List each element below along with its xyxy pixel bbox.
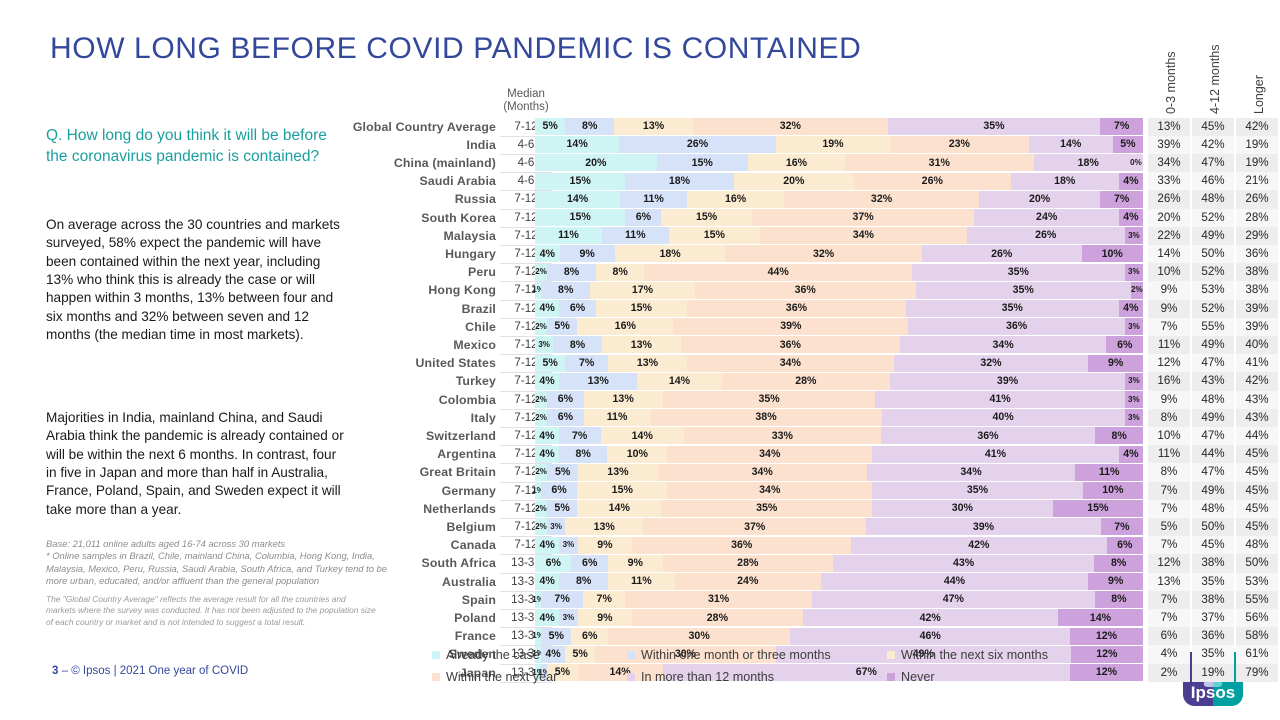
- row-label: Belgium: [300, 518, 496, 536]
- bar-segment: 36%: [881, 427, 1096, 444]
- row-label: Argentina: [300, 445, 496, 463]
- bar-segment: 15%: [1053, 500, 1143, 517]
- bar-segment: 26%: [619, 136, 776, 153]
- summary-cell: 42%: [1236, 372, 1278, 390]
- bar-segment: 5%: [547, 500, 577, 517]
- row-label: Poland: [300, 609, 496, 627]
- row-label: South Korea: [300, 209, 496, 227]
- summary-cell: 5%: [1148, 518, 1190, 536]
- row-label: Global Country Average: [300, 118, 496, 136]
- summary-header-1: 4-12 months: [1204, 32, 1222, 114]
- row-label: Chile: [300, 318, 496, 336]
- summary-cell: 7%: [1148, 482, 1190, 500]
- bar-segment: 36%: [695, 282, 916, 299]
- chart-legend: Already the caseWithin one month or thre…: [432, 648, 1192, 692]
- bar-segment: 11%: [608, 573, 675, 590]
- bar-segment: 36%: [632, 537, 851, 554]
- bar-segment: 32%: [784, 191, 979, 208]
- bar-segment: 19%: [776, 136, 890, 153]
- summary-cell: 44%: [1236, 427, 1278, 445]
- summary-cell: 50%: [1192, 245, 1234, 263]
- bar-segment: 11%: [584, 409, 651, 426]
- summary-cell: 6%: [1148, 627, 1190, 645]
- bar-segment: 3%: [1125, 409, 1143, 426]
- bar-segment: 9%: [560, 245, 615, 262]
- bar-segment: 15%: [535, 209, 625, 226]
- summary-cell: 13%: [1148, 118, 1190, 136]
- summary-cell: 50%: [1236, 554, 1278, 572]
- chart-row: Canada7-124%3%9%36%42%6%7%45%48%: [0, 536, 1280, 554]
- legend-label: Never: [901, 670, 935, 684]
- summary-cell: 37%: [1192, 609, 1234, 627]
- summary-cell: 19%: [1236, 154, 1278, 172]
- summary-cell: 26%: [1236, 190, 1278, 208]
- summary-cell: 20%: [1148, 209, 1190, 227]
- bar-segment: 11%: [620, 191, 687, 208]
- row-label: Spain: [300, 591, 496, 609]
- bar-segment: 34%: [667, 446, 872, 463]
- bar-segment: 7%: [565, 355, 608, 372]
- bar-segment: 38%: [651, 409, 882, 426]
- bar-segment: 4%: [535, 609, 559, 626]
- bar-segment: 15%: [669, 227, 760, 244]
- chart-row: United States7-125%7%13%34%32%9%12%47%41…: [0, 354, 1280, 372]
- bar-segment: 35%: [663, 391, 876, 408]
- bar-segment: 15%: [577, 482, 667, 499]
- bar-segment: 4%: [535, 373, 559, 390]
- summary-cell: 49%: [1192, 336, 1234, 354]
- row-label: Mexico: [300, 336, 496, 354]
- summary-cell: 45%: [1236, 445, 1278, 463]
- bar-segment: 9%: [1088, 355, 1143, 372]
- chart-row: Italy7-122%6%11%38%40%3%8%49%43%: [0, 409, 1280, 427]
- bar-segment: 15%: [657, 154, 748, 171]
- bar-segment: 36%: [681, 336, 900, 353]
- bar-segment: 41%: [872, 446, 1119, 463]
- legend-label: In more than 12 months: [641, 670, 774, 684]
- bar-segment: 24%: [675, 573, 821, 590]
- summary-cell: 35%: [1192, 573, 1234, 591]
- bar-segment: 17%: [590, 282, 694, 299]
- bar-segment: 2%: [535, 518, 547, 535]
- row-bar: 6%6%9%28%43%8%: [535, 555, 1143, 572]
- bar-segment: 11%: [535, 227, 602, 244]
- summary-cell: 9%: [1148, 391, 1190, 409]
- bar-segment: 3%: [559, 609, 577, 626]
- bar-segment: 31%: [845, 154, 1033, 171]
- stacked-bar-chart: Median (Months) 0-3 months4-12 monthsLon…: [0, 0, 1280, 720]
- bar-segment: 23%: [890, 136, 1028, 153]
- chart-row: Great Britain7-122%5%13%34%34%11%8%47%45…: [0, 463, 1280, 481]
- bar-segment: 26%: [854, 173, 1011, 190]
- bar-segment: 7%: [541, 591, 583, 608]
- median-column-header: Median (Months): [498, 88, 554, 114]
- summary-cell: 52%: [1192, 209, 1234, 227]
- row-bar: 3%8%13%36%34%6%: [535, 336, 1143, 353]
- bar-segment: 26%: [922, 245, 1082, 262]
- legend-row: Within the next yearIn more than 12 mont…: [432, 670, 1192, 684]
- row-label: Saudi Arabia: [300, 172, 496, 190]
- row-bar: 4%7%14%33%36%8%: [535, 427, 1143, 444]
- bar-segment: 13%: [584, 391, 663, 408]
- legend-item[interactable]: Within the next year: [432, 670, 627, 684]
- bar-segment: 34%: [760, 227, 967, 244]
- bar-segment: 14%: [577, 500, 661, 517]
- chart-row: Russia7-1214%11%16%32%20%7%26%48%26%: [0, 190, 1280, 208]
- bar-segment: 5%: [547, 318, 577, 335]
- legend-swatch-icon: [432, 651, 440, 659]
- summary-cell: 47%: [1192, 463, 1234, 481]
- bar-segment: 7%: [1101, 518, 1143, 535]
- summary-cell: 33%: [1148, 172, 1190, 190]
- row-bar: 5%8%13%32%35%7%: [535, 118, 1143, 135]
- bar-segment: 34%: [900, 336, 1107, 353]
- bar-segment: 4%: [1119, 173, 1143, 190]
- row-label: Hong Kong: [300, 281, 496, 299]
- bar-segment: 4%: [1119, 446, 1143, 463]
- bar-segment: 35%: [912, 264, 1125, 281]
- bar-segment: 18%: [1034, 154, 1143, 171]
- summary-cell: 48%: [1192, 391, 1234, 409]
- row-label: Netherlands: [300, 500, 496, 518]
- bar-segment: 37%: [752, 209, 975, 226]
- bar-segment: 44%: [821, 573, 1089, 590]
- summary-cell: 43%: [1236, 391, 1278, 409]
- summary-cell: 48%: [1192, 500, 1234, 518]
- bar-segment: 41%: [875, 391, 1124, 408]
- bar-segment: 14%: [535, 136, 619, 153]
- bar-segment: 6%: [547, 391, 583, 408]
- summary-cell: 34%: [1148, 154, 1190, 172]
- bar-segment: 4%: [535, 427, 559, 444]
- row-bar: 1%6%15%34%35%10%: [535, 482, 1143, 499]
- bar-segment: 8%: [559, 446, 607, 463]
- bar-segment: 6%: [1106, 336, 1142, 353]
- bar-segment: 14%: [1029, 136, 1113, 153]
- summary-cell: 38%: [1236, 263, 1278, 281]
- summary-cell: 48%: [1192, 190, 1234, 208]
- bar-segment: 3%: [547, 518, 565, 535]
- bar-segment: 8%: [596, 264, 645, 281]
- summary-header-0: 0-3 months: [1160, 32, 1178, 114]
- bar-segment: 8%: [559, 573, 608, 590]
- bar-segment: 13%: [608, 355, 687, 372]
- chart-row: Peru7-122%8%8%44%35%3%10%52%38%: [0, 263, 1280, 281]
- bar-segment: 9%: [578, 609, 633, 626]
- chart-row: Hong Kong7-121%8%17%36%35%2%9%53%38%: [0, 281, 1280, 299]
- bar-segment: 9%: [578, 537, 633, 554]
- bar-segment: 20%: [979, 191, 1101, 208]
- legend-swatch-icon: [887, 651, 895, 659]
- bar-segment: 13%: [614, 118, 693, 135]
- bar-segment: 8%: [547, 264, 596, 281]
- summary-cell: 39%: [1236, 300, 1278, 318]
- bar-segment: 5%: [535, 118, 565, 135]
- bar-segment: 36%: [687, 300, 906, 317]
- bar-segment: 3%: [1125, 264, 1143, 281]
- legend-item[interactable]: Within one month or three months: [627, 648, 887, 662]
- summary-cell: 7%: [1148, 318, 1190, 336]
- summary-cell: 36%: [1236, 245, 1278, 263]
- summary-cell: 8%: [1148, 409, 1190, 427]
- slide-root: HOW LONG BEFORE COVID PANDEMIC IS CONTAI…: [0, 0, 1280, 720]
- bar-segment: 39%: [890, 373, 1125, 390]
- row-bar: 2%5%13%34%34%11%: [535, 464, 1143, 481]
- summary-cell: 29%: [1236, 227, 1278, 245]
- bar-segment: 36%: [908, 318, 1125, 335]
- row-label: Russia: [300, 190, 496, 208]
- summary-cell: 14%: [1148, 245, 1190, 263]
- summary-cell: 11%: [1148, 336, 1190, 354]
- bar-segment: 18%: [615, 245, 726, 262]
- bar-segment: 4%: [1119, 300, 1143, 317]
- bar-segment: 7%: [1100, 191, 1143, 208]
- bar-segment: 34%: [867, 464, 1076, 481]
- bar-segment: 4%: [1119, 209, 1143, 226]
- bar-segment: 2%: [535, 391, 547, 408]
- summary-cell: 49%: [1192, 227, 1234, 245]
- bar-segment: 10%: [1082, 245, 1143, 262]
- bar-segment: 14%: [601, 427, 684, 444]
- row-bar: 1%8%17%36%35%2%: [535, 282, 1143, 299]
- row-bar: 2%5%14%35%30%15%: [535, 500, 1143, 517]
- row-label: France: [300, 627, 496, 645]
- bar-segment: 35%: [872, 482, 1083, 499]
- bar-segment: 2%: [535, 318, 547, 335]
- row-label: Great Britain: [300, 463, 496, 481]
- bar-segment: 40%: [882, 409, 1125, 426]
- row-bar: 14%11%16%32%20%7%: [535, 191, 1143, 208]
- bar-segment: 3%: [1125, 391, 1143, 408]
- chart-row: Global Country Average7-125%8%13%32%35%7…: [0, 118, 1280, 136]
- row-label: Colombia: [300, 391, 496, 409]
- bar-segment: 4%: [535, 245, 560, 262]
- row-label: Australia: [300, 573, 496, 591]
- bar-segment: 4%: [535, 537, 559, 554]
- bar-segment: 2%: [1131, 282, 1143, 299]
- row-label: Malaysia: [300, 227, 496, 245]
- summary-cell: 79%: [1236, 664, 1278, 682]
- summary-cell: 47%: [1192, 354, 1234, 372]
- row-bar: 5%7%13%34%32%9%: [535, 355, 1143, 372]
- summary-cell: 9%: [1148, 300, 1190, 318]
- bar-segment: 4%: [535, 573, 559, 590]
- row-bar: 2%3%13%37%39%7%: [535, 518, 1143, 535]
- bar-segment: 8%: [1095, 427, 1143, 444]
- bar-segment: 11%: [1075, 464, 1143, 481]
- summary-cell: 9%: [1148, 281, 1190, 299]
- summary-cell: 55%: [1192, 318, 1234, 336]
- bar-segment: 44%: [644, 264, 912, 281]
- chart-row: Poland13-364%3%9%28%42%14%7%37%56%: [0, 609, 1280, 627]
- summary-cell: 42%: [1236, 118, 1278, 136]
- bar-segment: 5%: [1113, 136, 1143, 153]
- summary-cell: 26%: [1148, 190, 1190, 208]
- bar-segment: 9%: [1088, 573, 1143, 590]
- row-bar: 4%8%10%34%41%4%: [535, 446, 1143, 463]
- row-bar: 20%15%16%31%18%0%: [535, 154, 1143, 171]
- bar-segment: 39%: [673, 318, 908, 335]
- summary-cell: 13%: [1148, 573, 1190, 591]
- bar-segment: 2%: [535, 464, 547, 481]
- bar-segment: 20%: [535, 154, 657, 171]
- bar-segment: 28%: [632, 609, 802, 626]
- chart-row: Turkey7-124%13%14%28%39%3%16%43%42%: [0, 372, 1280, 390]
- bar-segment: 14%: [1058, 609, 1143, 626]
- row-label: Canada: [300, 536, 496, 554]
- chart-row: Germany7-121%6%15%34%35%10%7%49%45%: [0, 482, 1280, 500]
- bar-segment: 20%: [734, 173, 854, 190]
- summary-cell: 61%: [1236, 645, 1278, 663]
- bar-segment: 47%: [812, 591, 1095, 608]
- bar-segment: 6%: [541, 482, 577, 499]
- summary-cell: 58%: [1236, 627, 1278, 645]
- summary-cell: 16%: [1148, 372, 1190, 390]
- median-header-line2: (Months): [498, 101, 554, 114]
- bar-segment: 5%: [547, 464, 578, 481]
- row-bar: 2%6%11%38%40%3%: [535, 409, 1143, 426]
- row-bar: 15%18%20%26%18%4%: [535, 173, 1143, 190]
- summary-cell: 48%: [1236, 536, 1278, 554]
- legend-item[interactable]: Within the next six months: [887, 648, 1048, 662]
- bar-segment: 33%: [684, 427, 881, 444]
- summary-cell: 44%: [1192, 445, 1234, 463]
- bar-segment: 13%: [559, 373, 637, 390]
- bar-segment: 16%: [748, 154, 845, 171]
- bar-segment: 30%: [872, 500, 1053, 517]
- summary-cell: 45%: [1236, 518, 1278, 536]
- bar-segment: 42%: [851, 537, 1106, 554]
- summary-cell: 49%: [1192, 482, 1234, 500]
- summary-cell: 47%: [1192, 427, 1234, 445]
- summary-cell: 22%: [1148, 227, 1190, 245]
- summary-cell: 41%: [1236, 354, 1278, 372]
- bar-segment: 10%: [607, 446, 667, 463]
- summary-cell: 55%: [1236, 591, 1278, 609]
- row-bar: 4%13%14%28%39%3%: [535, 373, 1143, 390]
- chart-row: Brazil7-124%6%15%36%35%4%9%52%39%: [0, 300, 1280, 318]
- legend-label: Within the next year: [446, 670, 557, 684]
- row-bar: 1%7%7%31%47%8%: [535, 591, 1143, 608]
- bar-segment: 8%: [541, 282, 590, 299]
- bar-segment: 32%: [894, 355, 1089, 372]
- bar-segment: 5%: [535, 355, 565, 372]
- bar-segment: 7%: [559, 427, 601, 444]
- legend-row: Already the caseWithin one month or thre…: [432, 648, 1192, 662]
- bar-segment: 13%: [565, 518, 643, 535]
- bar-segment: 6%: [625, 209, 661, 226]
- chart-row: Colombia7-122%6%13%35%41%3%9%48%43%: [0, 391, 1280, 409]
- bar-segment: 34%: [658, 464, 867, 481]
- chart-row: India4-614%26%19%23%14%5%39%42%19%: [0, 136, 1280, 154]
- bar-segment: 16%: [687, 191, 784, 208]
- legend-label: Already the case: [446, 648, 540, 662]
- summary-cell: 45%: [1236, 463, 1278, 481]
- summary-cell: 7%: [1148, 609, 1190, 627]
- legend-swatch-icon: [627, 651, 635, 659]
- bar-segment: 13%: [578, 464, 658, 481]
- bar-segment: 14%: [637, 373, 721, 390]
- bar-segment: 28%: [663, 555, 833, 572]
- summary-cell: 38%: [1192, 591, 1234, 609]
- bar-segment: 18%: [1011, 173, 1119, 190]
- bar-segment: 46%: [790, 628, 1070, 645]
- row-bar: 4%9%18%32%26%10%: [535, 245, 1143, 262]
- row-label: United States: [300, 354, 496, 372]
- bar-segment: 18%: [625, 173, 733, 190]
- legend-item[interactable]: Never: [887, 670, 935, 684]
- chart-row: South Korea7-1215%6%15%37%24%4%20%52%28%: [0, 209, 1280, 227]
- summary-cell: 10%: [1148, 427, 1190, 445]
- summary-cell: 19%: [1192, 664, 1234, 682]
- chart-row: South Africa13-366%6%9%28%43%8%12%38%50%: [0, 554, 1280, 572]
- summary-cell: 46%: [1192, 172, 1234, 190]
- summary-cell: 53%: [1236, 573, 1278, 591]
- row-bar: 2%5%16%39%36%3%: [535, 318, 1143, 335]
- summary-cell: 11%: [1148, 445, 1190, 463]
- bar-segment: 34%: [667, 482, 872, 499]
- bar-segment: 37%: [643, 518, 866, 535]
- bar-segment: 11%: [602, 227, 669, 244]
- bar-segment: 31%: [625, 591, 812, 608]
- summary-cell: 45%: [1192, 536, 1234, 554]
- summary-cell: 53%: [1192, 281, 1234, 299]
- summary-cell: 36%: [1192, 627, 1234, 645]
- summary-cell: 38%: [1192, 554, 1234, 572]
- bar-segment: 32%: [725, 245, 922, 262]
- bar-segment: 35%: [906, 300, 1119, 317]
- legend-item[interactable]: In more than 12 months: [627, 670, 887, 684]
- row-label: South Africa: [300, 554, 496, 572]
- summary-cell: 28%: [1236, 209, 1278, 227]
- bar-segment: 3%: [1125, 318, 1143, 335]
- chart-row: Australia13-364%8%11%24%44%9%13%35%53%: [0, 573, 1280, 591]
- bar-segment: 12%: [1070, 628, 1143, 645]
- bar-segment: 2%: [535, 500, 547, 517]
- chart-row: Belgium7-122%3%13%37%39%7%5%50%45%: [0, 518, 1280, 536]
- summary-cell: 52%: [1192, 300, 1234, 318]
- bar-segment: 3%: [1125, 227, 1143, 244]
- bar-segment: 7%: [583, 591, 625, 608]
- summary-cell: 38%: [1236, 281, 1278, 299]
- chart-row: Argentina7-124%8%10%34%41%4%11%44%45%: [0, 445, 1280, 463]
- bar-segment: 35%: [661, 500, 872, 517]
- bar-segment: 6%: [547, 409, 583, 426]
- bar-segment: 24%: [974, 209, 1118, 226]
- summary-cell: 45%: [1192, 118, 1234, 136]
- row-label: Turkey: [300, 372, 496, 390]
- bar-segment: 2%: [535, 409, 547, 426]
- row-label: Brazil: [300, 300, 496, 318]
- bar-segment: 35%: [916, 282, 1131, 299]
- bar-segment: 14%: [535, 191, 620, 208]
- summary-cell: 10%: [1148, 263, 1190, 281]
- chart-row: Saudi Arabia4-615%18%20%26%18%4%33%46%21…: [0, 172, 1280, 190]
- bar-segment: 39%: [866, 518, 1101, 535]
- median-header-line1: Median: [498, 88, 554, 101]
- summary-header-2: Longer: [1248, 32, 1266, 114]
- row-bar: 4%6%15%36%35%4%: [535, 300, 1143, 317]
- summary-cell: 50%: [1192, 518, 1234, 536]
- bar-segment: 2%: [535, 264, 547, 281]
- bar-segment: 6%: [535, 555, 571, 572]
- summary-cell: 39%: [1236, 318, 1278, 336]
- row-label: China (mainland): [300, 154, 496, 172]
- bar-segment: 34%: [687, 355, 894, 372]
- row-bar: 15%6%15%37%24%4%: [535, 209, 1143, 226]
- bar-segment: 42%: [803, 609, 1058, 626]
- legend-item[interactable]: Already the case: [432, 648, 627, 662]
